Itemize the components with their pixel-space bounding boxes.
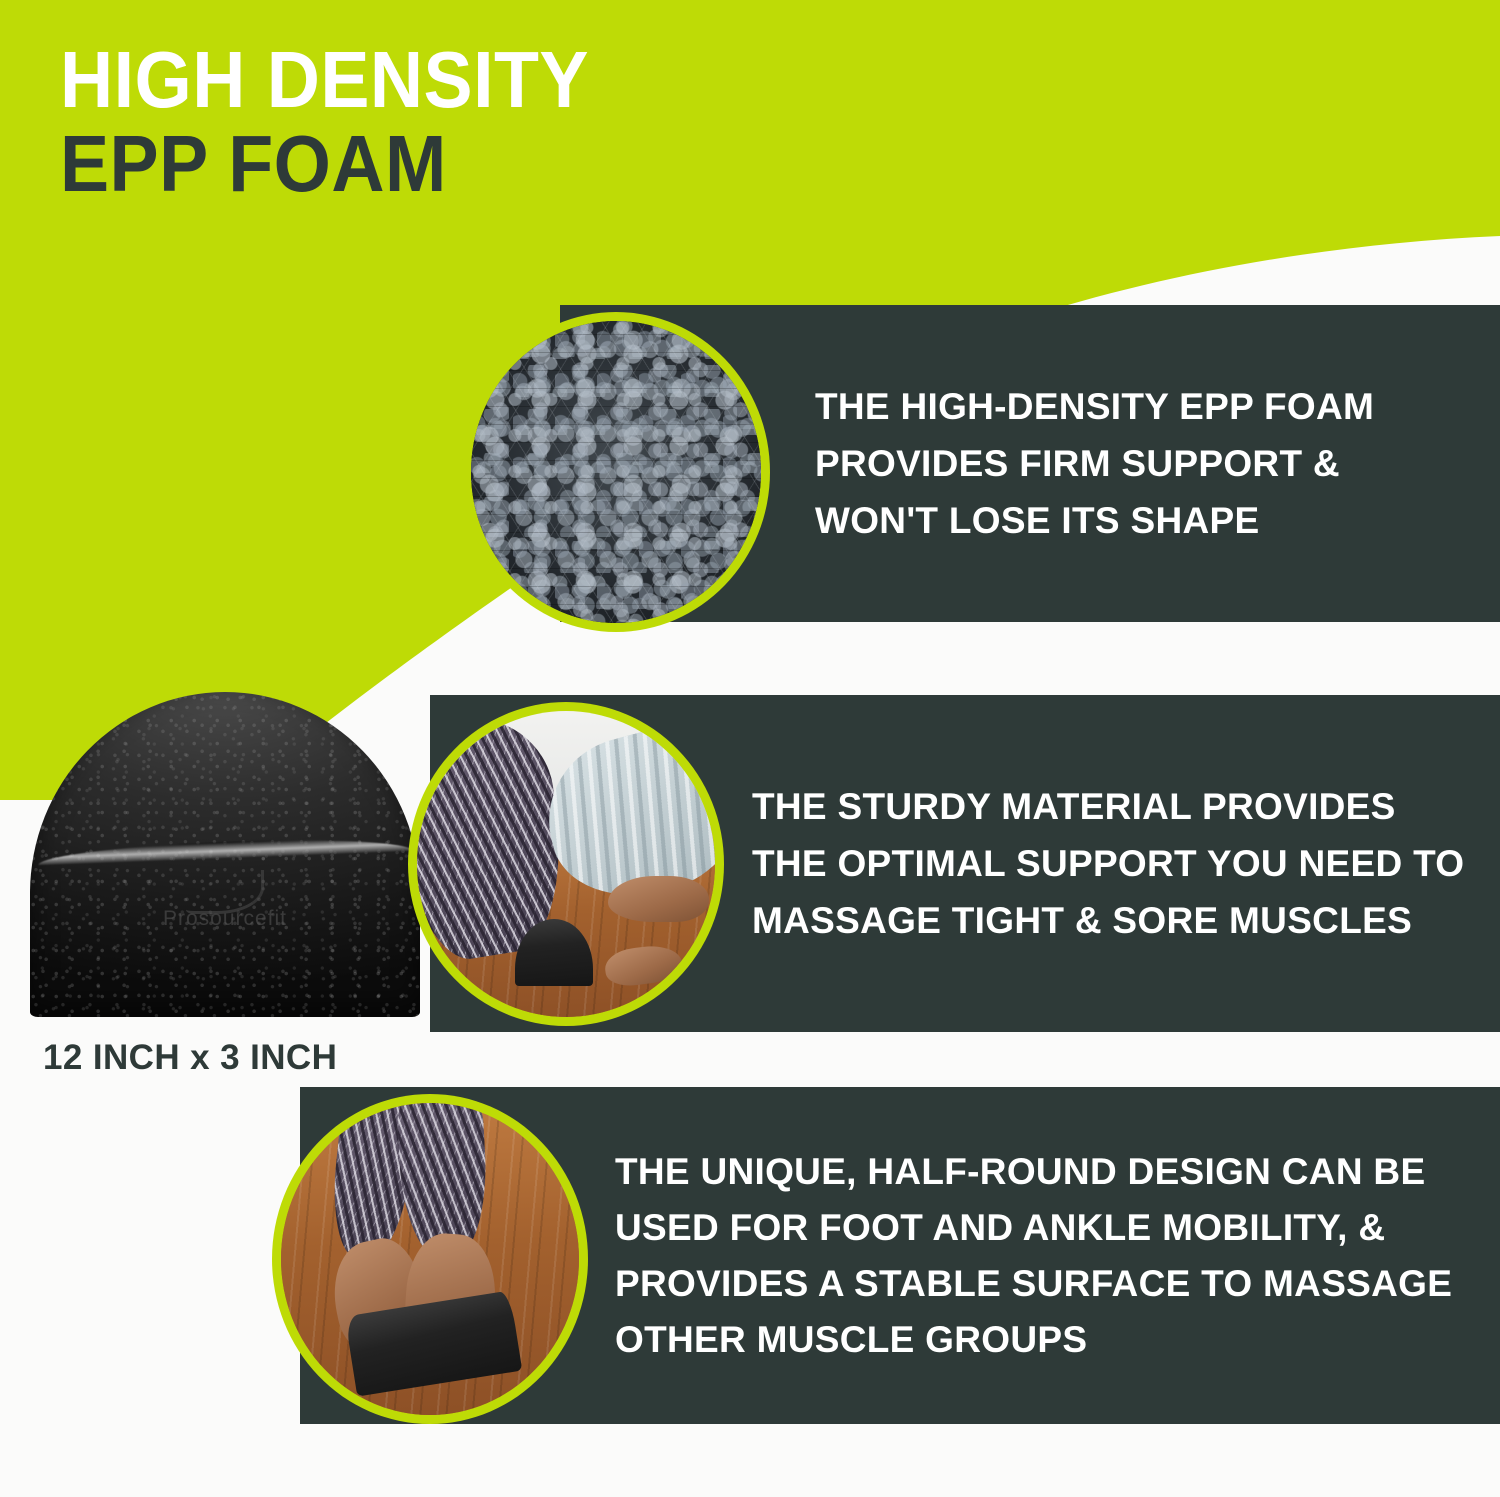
feature-line: THE OPTIMAL SUPPORT YOU NEED TO bbox=[752, 835, 1472, 892]
product-dimension-caption: 12 INCH x 3 INCH bbox=[43, 1038, 337, 1078]
feature-text-half-round-design: THE UNIQUE, HALF-ROUND DESIGN CAN BE USE… bbox=[615, 1144, 1485, 1368]
feature-line: THE STURDY MATERIAL PROVIDES bbox=[752, 778, 1472, 835]
feature-image-feet-on-roller bbox=[272, 1094, 588, 1424]
feature-line: PROVIDES A STABLE SURFACE TO MASSAGE bbox=[615, 1256, 1485, 1312]
feature-line: MASSAGE TIGHT & SORE MUSCLES bbox=[752, 892, 1472, 949]
infographic-poster: HIGH DENSITY EPP FOAM THE HIGH-DENSITY E… bbox=[0, 0, 1500, 1497]
feature-text-sturdy-material: THE STURDY MATERIAL PROVIDES THE OPTIMAL… bbox=[752, 778, 1472, 949]
feature-image-person-on-roller bbox=[408, 702, 724, 1026]
page-title: HIGH DENSITY EPP FOAM bbox=[60, 38, 635, 206]
roller-body: Prosourcefit bbox=[30, 692, 420, 1017]
feature-line: WON'T LOSE ITS SHAPE bbox=[815, 492, 1455, 549]
feature-line: THE UNIQUE, HALF-ROUND DESIGN CAN BE bbox=[615, 1144, 1485, 1200]
scene-feet-on-roller bbox=[281, 1103, 579, 1415]
brand-name-embossed: Prosourcefit bbox=[163, 907, 287, 931]
feature-text-foam-density: THE HIGH-DENSITY EPP FOAM PROVIDES FIRM … bbox=[815, 378, 1455, 549]
feature-line: THE HIGH-DENSITY EPP FOAM bbox=[815, 378, 1455, 435]
scene-person-lying-on-roller bbox=[417, 711, 715, 1017]
title-line-primary: HIGH DENSITY bbox=[60, 38, 589, 122]
feature-line: USED FOR FOOT AND ANKLE MOBILITY, & bbox=[615, 1200, 1485, 1256]
feature-line: PROVIDES FIRM SUPPORT & bbox=[815, 435, 1455, 492]
title-line-secondary: EPP FOAM bbox=[60, 122, 589, 206]
feature-line: OTHER MUSCLE GROUPS bbox=[615, 1312, 1485, 1368]
feature-image-epp-foam-closeup bbox=[462, 312, 770, 632]
product-photo-half-round-foam-roller: Prosourcefit bbox=[30, 672, 420, 1017]
hand bbox=[608, 876, 709, 922]
epp-foam-cell-texture bbox=[471, 321, 761, 623]
